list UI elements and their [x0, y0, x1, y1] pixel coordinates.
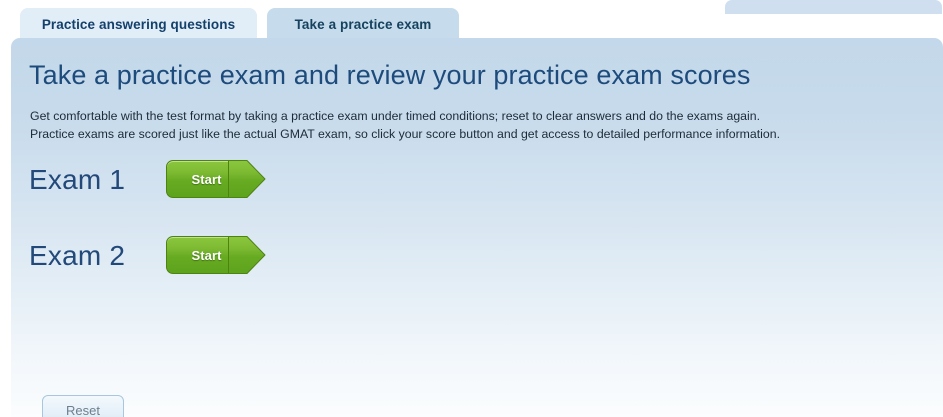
intro-line-2: Practice exams are scored just like the …	[30, 125, 920, 143]
main-content-panel: Take a practice exam and review your pra…	[11, 38, 943, 417]
tab-practice-answering-questions[interactable]: Practice answering questions	[20, 8, 257, 40]
start-button-label: Start	[166, 236, 247, 274]
reset-button[interactable]: Reset	[42, 395, 124, 417]
exam-row: Exam 2 Start	[29, 236, 329, 288]
exam-row: Exam 1 Start	[29, 160, 329, 212]
exam-label: Exam 1	[29, 164, 125, 196]
start-exam-2-button[interactable]: Start	[166, 236, 266, 274]
start-button-label: Start	[166, 160, 247, 198]
tab-strip: Practice answering questions Take a prac…	[0, 8, 943, 40]
page-title: Take a practice exam and review your pra…	[29, 60, 751, 91]
intro-paragraph: Get comfortable with the test format by …	[30, 107, 920, 143]
intro-line-1: Get comfortable with the test format by …	[30, 107, 920, 125]
tab-label: Take a practice exam	[295, 17, 432, 32]
tab-take-a-practice-exam[interactable]: Take a practice exam	[267, 8, 459, 40]
reset-button-label: Reset	[66, 403, 100, 417]
start-exam-1-button[interactable]: Start	[166, 160, 266, 198]
exam-label: Exam 2	[29, 240, 125, 272]
tab-label: Practice answering questions	[42, 17, 235, 32]
